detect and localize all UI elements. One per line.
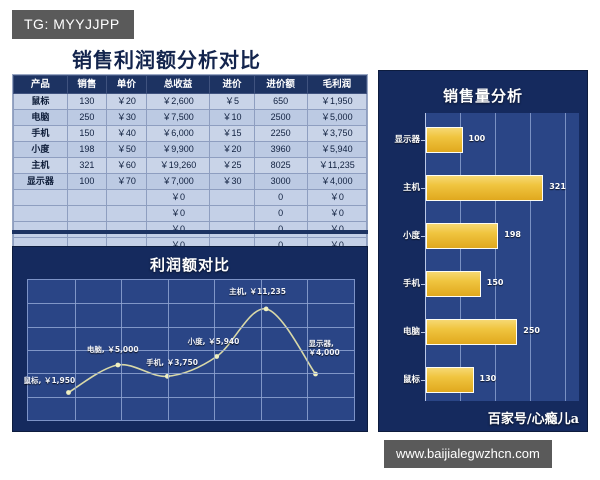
- table-cell[interactable]: ￥19,260: [146, 158, 210, 174]
- line-chart-gridline-h: [28, 303, 354, 304]
- table-cell[interactable]: [107, 206, 147, 222]
- table-cell[interactable]: ￥20: [210, 142, 254, 158]
- table-header-cell-1: 销售: [67, 76, 107, 94]
- line-point-label: 手机, ￥3,750: [146, 357, 198, 368]
- table-cell[interactable]: 0: [254, 190, 307, 206]
- table-cell[interactable]: 3000: [254, 174, 307, 190]
- table-cell[interactable]: ￥25: [210, 158, 254, 174]
- bar-rect[interactable]: [426, 271, 481, 297]
- table-cell[interactable]: 2500: [254, 110, 307, 126]
- table-cell[interactable]: ￥7,500: [146, 110, 210, 126]
- table-cell[interactable]: 250: [67, 110, 107, 126]
- table-header-cell-6: 毛利润: [307, 76, 366, 94]
- page-title: 销售利润额分析对比: [72, 44, 261, 73]
- table-header-cell-4: 进价: [210, 76, 254, 94]
- table-cell[interactable]: ￥10: [210, 110, 254, 126]
- line-data-point[interactable]: [214, 354, 219, 359]
- table-cell[interactable]: ￥5: [210, 94, 254, 110]
- table-row[interactable]: 手机150￥40￥6,000￥152250￥3,750: [14, 126, 367, 142]
- table-cell[interactable]: 2250: [254, 126, 307, 142]
- table-row[interactable]: ￥00￥0: [14, 206, 367, 222]
- table-cell[interactable]: 198: [67, 142, 107, 158]
- line-point-label: 主机, ￥11,235: [229, 286, 286, 297]
- table-header-cell-0: 产品: [14, 76, 68, 94]
- bar-category-label: 主机: [403, 181, 420, 193]
- line-chart-gridline-h: [28, 327, 354, 328]
- table-cell[interactable]: 显示器: [14, 174, 68, 190]
- table-cell[interactable]: ￥2,600: [146, 94, 210, 110]
- table-cell[interactable]: ￥11,235: [307, 158, 366, 174]
- bar-rect[interactable]: [426, 367, 474, 393]
- line-chart-gridline-h: [28, 373, 354, 374]
- line-point-label: 电脑, ￥5,000: [87, 344, 139, 355]
- table-cell[interactable]: ￥20: [107, 94, 147, 110]
- table-header-cell-5: 进价额: [254, 76, 307, 94]
- line-point-label: 小度, ￥5,940: [188, 336, 240, 347]
- bar-rect[interactable]: [426, 223, 498, 249]
- bar-chart-title: 销售量分析: [379, 85, 587, 106]
- table-cell[interactable]: ￥9,900: [146, 142, 210, 158]
- bar-chart-gridline: [495, 113, 496, 401]
- table-cell[interactable]: 电脑: [14, 110, 68, 126]
- line-point-label: 显示器, ￥4,000: [308, 339, 346, 357]
- table-cell[interactable]: ￥70: [107, 174, 147, 190]
- table-cell[interactable]: ￥3,750: [307, 126, 366, 142]
- table-cell[interactable]: 130: [67, 94, 107, 110]
- line-chart-gridline-h: [28, 397, 354, 398]
- line-data-point[interactable]: [116, 363, 121, 368]
- bar-category-label: 手机: [403, 277, 420, 289]
- table-cell[interactable]: 3960: [254, 142, 307, 158]
- table-cell[interactable]: ￥30: [107, 110, 147, 126]
- profit-line-chart-panel: 利润额对比 鼠标, ￥1,950电脑, ￥5,000手机, ￥3,750小度, …: [12, 246, 368, 432]
- table-cell[interactable]: [14, 190, 68, 206]
- table-cell[interactable]: ￥0: [307, 206, 366, 222]
- bar-value-label: 150: [487, 278, 504, 287]
- table-cell[interactable]: 100: [67, 174, 107, 190]
- bar-value-label: 100: [469, 134, 486, 143]
- bar-category-label: 显示器: [394, 133, 420, 145]
- bar-category-label: 鼠标: [403, 373, 420, 385]
- table-cell[interactable]: ￥40: [107, 126, 147, 142]
- table-row[interactable]: 显示器100￥70￥7,000￥303000￥4,000: [14, 174, 367, 190]
- table-cell[interactable]: 8025: [254, 158, 307, 174]
- table-cell[interactable]: ￥30: [210, 174, 254, 190]
- table-cell[interactable]: ￥7,000: [146, 174, 210, 190]
- table-cell[interactable]: ￥6,000: [146, 126, 210, 142]
- screenshot-canvas: TG: MYYJJPP 销售利润额分析对比 产品销售单价总收益进价进价额毛利润 …: [0, 0, 600, 480]
- sales-volume-bar-chart-panel: 销售量分析 显示器100主机321小度198手机150电脑250鼠标130 百家…: [378, 70, 588, 432]
- table-cell[interactable]: ￥0: [146, 206, 210, 222]
- table-row[interactable]: 电脑250￥30￥7,500￥102500￥5,000: [14, 110, 367, 126]
- bar-chart-gridline: [530, 113, 531, 401]
- table-cell[interactable]: [107, 190, 147, 206]
- table-cell[interactable]: ￥5,000: [307, 110, 366, 126]
- sales-data-table: 产品销售单价总收益进价进价额毛利润 鼠标130￥20￥2,600￥5650￥1,…: [12, 74, 368, 255]
- table-cell[interactable]: [210, 190, 254, 206]
- table-cell[interactable]: 321: [67, 158, 107, 174]
- table-cell[interactable]: ￥0: [307, 190, 366, 206]
- bar-chart-gridline: [565, 113, 566, 401]
- bar-category-label: 电脑: [403, 325, 420, 337]
- table-cell[interactable]: 0: [254, 206, 307, 222]
- table-header-cell-2: 单价: [107, 76, 147, 94]
- line-data-point[interactable]: [264, 307, 269, 312]
- bar-rect[interactable]: [426, 175, 543, 201]
- table-cell[interactable]: [14, 206, 68, 222]
- line-chart-title: 利润额对比: [13, 254, 367, 275]
- bar-value-label: 250: [523, 326, 540, 335]
- bar-category-label: 小度: [403, 229, 420, 241]
- table-cell[interactable]: ￥1,950: [307, 94, 366, 110]
- table-cell[interactable]: 650: [254, 94, 307, 110]
- table-row[interactable]: 鼠标130￥20￥2,600￥5650￥1,950: [14, 94, 367, 110]
- table-cell[interactable]: ￥0: [146, 190, 210, 206]
- table-row[interactable]: 主机321￥60￥19,260￥258025￥11,235: [14, 158, 367, 174]
- bar-rect[interactable]: [426, 127, 463, 153]
- table-cell[interactable]: ￥4,000: [307, 174, 366, 190]
- table-cell[interactable]: 手机: [14, 126, 68, 142]
- table-header-cell-3: 总收益: [146, 76, 210, 94]
- table-row[interactable]: ￥00￥0: [14, 190, 367, 206]
- table-cell[interactable]: ￥5,940: [307, 142, 366, 158]
- baijiahao-watermark: 百家号/心瘾儿a: [488, 408, 579, 427]
- table-header-row: 产品销售单价总收益进价进价额毛利润: [14, 76, 367, 94]
- table-cell[interactable]: [67, 190, 107, 206]
- line-data-point[interactable]: [66, 390, 71, 395]
- table-row[interactable]: 小度198￥50￥9,900￥203960￥5,940: [14, 142, 367, 158]
- table-cell[interactable]: [67, 206, 107, 222]
- table-cell[interactable]: 150: [67, 126, 107, 142]
- bar-rect[interactable]: [426, 319, 517, 345]
- table-cell[interactable]: [210, 206, 254, 222]
- table-cell[interactable]: 主机: [14, 158, 68, 174]
- table-cell[interactable]: 小度: [14, 142, 68, 158]
- bar-chart-y-axis: [425, 113, 426, 401]
- bar-chart-gridline: [460, 113, 461, 401]
- table-cell[interactable]: 鼠标: [14, 94, 68, 110]
- line-chart-plot-area: [27, 279, 355, 421]
- bar-value-label: 130: [480, 374, 497, 383]
- bar-value-label: 321: [549, 182, 566, 191]
- footer-url-overlay: www.baijialegwzhcn.com: [384, 440, 552, 468]
- bar-value-label: 198: [504, 230, 521, 239]
- line-chart-gridline-h: [28, 350, 354, 351]
- table-cell[interactable]: ￥60: [107, 158, 147, 174]
- line-point-label: 鼠标, ￥1,950: [24, 375, 76, 386]
- bar-chart-plot-area: 显示器100主机321小度198手机150电脑250鼠标130: [425, 113, 579, 401]
- table-cell[interactable]: ￥50: [107, 142, 147, 158]
- table-bottom-border: [12, 230, 368, 234]
- tg-tag-overlay: TG: MYYJJPP: [12, 10, 134, 39]
- table-cell[interactable]: ￥15: [210, 126, 254, 142]
